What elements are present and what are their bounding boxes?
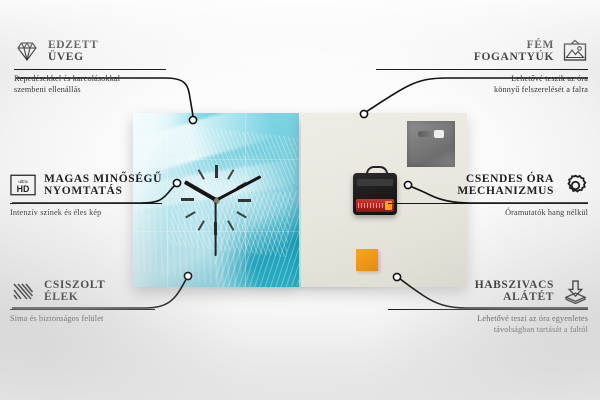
svg-text:HD: HD [17,184,30,194]
callout-polished-edges: CSISZOLT ÉLEK Sima és biztonságos felüle… [10,278,220,325]
movement-hook [366,166,388,178]
callout-title: CSENDES ÓRA MECHANIZMUS [457,173,554,198]
gear-icon [562,172,588,198]
foam-pad-arrow-icon [562,278,588,304]
callout-title: EDZETT ÜVEG [48,39,98,64]
callout-title: FÉM FOGANTYÚK [474,39,554,64]
diamond-icon [14,38,40,64]
callout-header: FÉM FOGANTYÚK [376,38,588,64]
callout-title: MAGAS MINŐSÉGŰ NYOMTATÁS [44,173,162,198]
callout-header: CSENDES ÓRA MECHANIZMUS [388,172,588,198]
callout-silent-mechanism: CSENDES ÓRA MECHANIZMUS Óramutatók hang … [388,172,588,219]
callout-rule [14,69,166,70]
callout-description: Sima és biztonságos felület [10,314,220,324]
callout-title: CSISZOLT ÉLEK [44,279,105,304]
callout-rule [388,203,588,204]
callout-foam-pad: HABSZIVACS ALÁTÉT Lehetővé teszi az óra … [388,278,588,335]
callout-description: Óramutatók hang nélkül [388,208,588,218]
callout-description: Intenzív színek és éles kép [10,208,220,218]
callout-metal-handles: FÉM FOGANTYÚK Lehetővé teszik az óra kön… [376,38,588,95]
callout-header: HABSZIVACS ALÁTÉT [388,278,588,304]
callout-rule [10,309,155,310]
infographic-canvas: EDZETT ÜVEG Repedésekkel és karcolásokka… [0,0,600,400]
callout-header: ultra HD MAGAS MINŐSÉGŰ NYOMTATÁS [10,172,220,198]
callout-tempered-glass: EDZETT ÜVEG Repedésekkel és karcolásokka… [14,38,224,95]
callout-rule [376,69,588,70]
framed-picture-hanger-icon [562,38,588,64]
callout-title: HABSZIVACS ALÁTÉT [475,279,554,304]
glass-pane-line [133,159,299,160]
callout-header: EDZETT ÜVEG [14,38,224,64]
callout-description: Lehetővé teszi az óra egyenletes távolsá… [388,314,588,335]
callout-rule [10,203,162,204]
callout-high-quality-print: ultra HD MAGAS MINŐSÉGŰ NYOMTATÁS Intenz… [10,172,220,219]
feather-highlight-1 [133,113,275,179]
metal-hanger-part [407,121,455,167]
polished-edges-icon [10,278,36,304]
hanger-slot [418,131,443,137]
callout-description: Lehetővé teszik az óra könnyű felszerelé… [376,74,588,95]
callout-header: CSISZOLT ÉLEK [10,278,220,304]
foam-pad-part [356,249,378,271]
ultra-hd-icon: ultra HD [10,172,36,198]
callout-rule [388,309,588,310]
callout-description: Repedésekkel és karcolásokkal szembeni e… [14,74,224,95]
